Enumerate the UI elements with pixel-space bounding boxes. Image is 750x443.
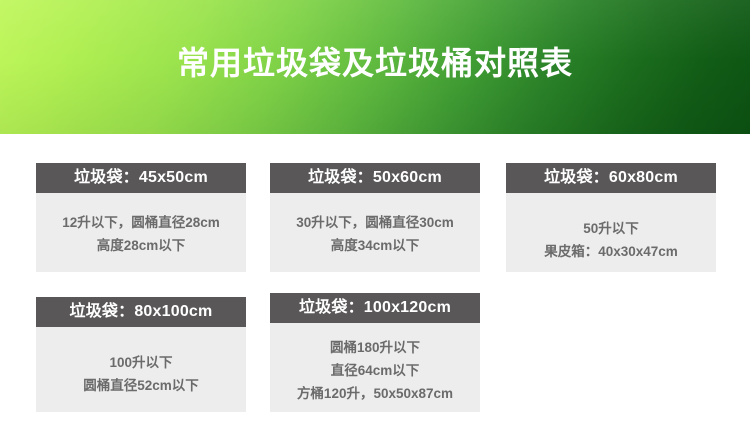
card-body-line: 30升以下，圆桶直径30cm bbox=[274, 211, 476, 234]
card-body-line: 高度28cm以下 bbox=[40, 234, 242, 257]
card-body: 圆桶180升以下 直径64cm以下 方桶120升，50x50x87cm bbox=[270, 323, 480, 412]
card-body-line: 50升以下 bbox=[510, 217, 712, 240]
card-body-line: 直径64cm以下 bbox=[274, 359, 476, 382]
card-header-label: 垃圾袋：100x120cm bbox=[270, 293, 480, 323]
card-header-label: 垃圾袋：45x50cm bbox=[36, 163, 246, 193]
comparison-table-page: 常用垃圾袋及垃圾桶对照表 alibaba 垃圾袋：45x50cm 12升以下，圆… bbox=[0, 0, 750, 443]
page-title: 常用垃圾袋及垃圾桶对照表 bbox=[0, 41, 750, 85]
card-bag-45x50: 垃圾袋：45x50cm 12升以下，圆桶直径28cm 高度28cm以下 bbox=[36, 163, 246, 272]
card-body-line: 方桶120升，50x50x87cm bbox=[274, 382, 476, 405]
card-body-line: 高度34cm以下 bbox=[274, 234, 476, 257]
card-body-line: 果皮箱：40x30x47cm bbox=[510, 240, 712, 263]
page-banner: 常用垃圾袋及垃圾桶对照表 bbox=[0, 0, 750, 134]
card-body-line: 12升以下，圆桶直径28cm bbox=[40, 211, 242, 234]
card-body: 12升以下，圆桶直径28cm 高度28cm以下 bbox=[36, 193, 246, 272]
card-body: 50升以下 果皮箱：40x30x47cm bbox=[506, 193, 716, 272]
card-bag-100x120: 垃圾袋：100x120cm 圆桶180升以下 直径64cm以下 方桶120升，5… bbox=[270, 293, 480, 412]
card-bag-60x80: 垃圾袋：60x80cm 50升以下 果皮箱：40x30x47cm bbox=[506, 163, 716, 272]
card-body-line: 100升以下 bbox=[40, 351, 242, 374]
card-header-label: 垃圾袋：50x60cm bbox=[270, 163, 480, 193]
card-bag-50x60: 垃圾袋：50x60cm 30升以下，圆桶直径30cm 高度34cm以下 bbox=[270, 163, 480, 272]
card-body-line: 圆桶直径52cm以下 bbox=[40, 374, 242, 397]
card-body: 100升以下 圆桶直径52cm以下 bbox=[36, 327, 246, 412]
cards-grid: alibaba 垃圾袋：45x50cm 12升以下，圆桶直径28cm 高度28c… bbox=[0, 134, 750, 443]
card-bag-80x100: 垃圾袋：80x100cm 100升以下 圆桶直径52cm以下 bbox=[36, 297, 246, 412]
card-header-label: 垃圾袋：60x80cm bbox=[506, 163, 716, 193]
card-header-label: 垃圾袋：80x100cm bbox=[36, 297, 246, 327]
card-body-line: 圆桶180升以下 bbox=[274, 336, 476, 359]
card-body: 30升以下，圆桶直径30cm 高度34cm以下 bbox=[270, 193, 480, 272]
